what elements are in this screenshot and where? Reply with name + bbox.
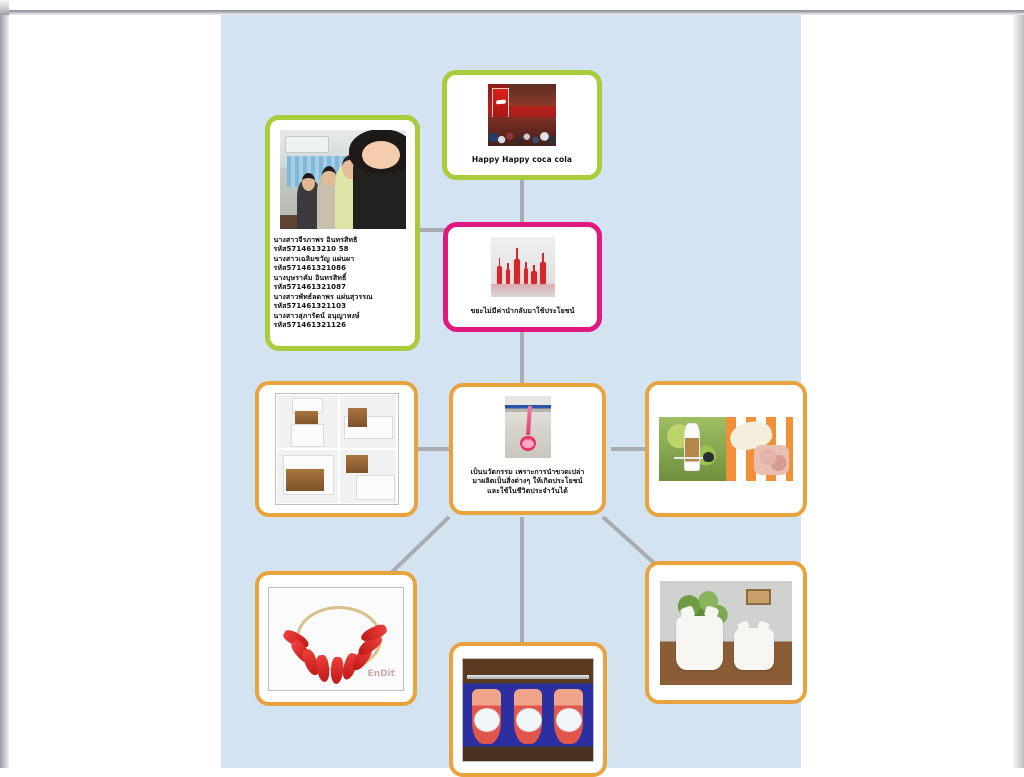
team-line-3: นางสาวเฉลิมขวัญ แผ่นผา — [274, 255, 419, 264]
necklace-photo: EnDit — [268, 587, 404, 691]
window-corner — [0, 0, 9, 15]
window-top-bar — [0, 0, 1024, 10]
team-line-4: รหัส571461321086 — [274, 264, 419, 273]
team-line-5: นางบุษราคัม อินทรสิทธิ์ — [274, 274, 419, 283]
packaging-collage-photo — [275, 393, 399, 505]
innovation-line-2: มาผลิตเป็นสิ่งต่างๆ ให้เกิดประโยชน์ — [471, 477, 585, 486]
innovation-center-node[interactable]: เป็นนวัตกรรม เพราะการนำขวดเปล่า มาผลิตเป… — [449, 383, 606, 515]
mindmap-canvas: นางสาวจีรภาพร อินทรสิทธิ รหัส5714613210 … — [221, 15, 801, 768]
waste-value-caption: ขยะไม่มีค่านำกลับมาใช้ประโยชน์ — [465, 307, 579, 316]
packaging-collage-node[interactable] — [255, 381, 418, 517]
slide-page: นางสาวจีรภาพร อินทรสิทธิ รหัส5714613210 … — [9, 15, 1013, 768]
team-line-1: นางสาวจีรภาพร อินทรสิทธิ — [274, 236, 419, 245]
team-members-list: นางสาวจีรภาพร อินทรสิทธิ รหัส5714613210 … — [265, 236, 420, 330]
left-scroll-gutter[interactable] — [0, 15, 9, 768]
connector-happy-waste — [520, 178, 524, 226]
team-members-node[interactable]: นางสาวจีรภาพร อินทรสิทธิ รหัส5714613210 … — [265, 115, 420, 351]
cat-planter-node[interactable] — [645, 561, 807, 704]
team-line-9: นางสาวสุภารัตน์ อนุญาหงษ์ — [274, 312, 419, 321]
connector-center-duo — [611, 447, 645, 451]
team-line-6: รหัส571461321087 — [274, 283, 419, 292]
slide-root: นางสาวจีรภาพร อินทรสิทธิ รหัส5714613210 … — [0, 0, 1024, 768]
red-bottles-photo — [491, 237, 555, 297]
team-line-8: รหัส571461321103 — [274, 302, 419, 311]
innovation-caption: เป็นนวัตกรรม เพราะการนำขวดเปล่า มาผลิตเป… — [466, 468, 590, 496]
bird-feeder-node[interactable] — [645, 381, 807, 517]
connector-waste-center — [520, 331, 524, 386]
connector-center-craft — [520, 517, 524, 647]
necklace-watermark: EnDit — [368, 669, 395, 679]
bottle-necklace-node[interactable]: EnDit — [255, 571, 417, 706]
team-photo — [280, 130, 406, 229]
waste-value-node[interactable]: ขยะไม่มีค่านำกลับมาใช้ประโยชน์ — [443, 222, 602, 332]
bird-feeder-photo — [659, 417, 793, 481]
bottle-craft-photo — [505, 396, 551, 458]
innovation-line-1: เป็นนวัตกรรม เพราะการนำขวดเปล่า — [471, 468, 585, 477]
craft-display-node[interactable] — [449, 642, 607, 777]
cat-planter-photo — [660, 581, 792, 685]
happy-coca-cola-node[interactable]: Happy Happy coca cola — [442, 70, 602, 180]
coca-cola-crowd-photo — [488, 84, 556, 146]
team-line-10: รหัส571461321126 — [274, 321, 419, 330]
right-scroll-gutter[interactable] — [1013, 15, 1024, 768]
craft-display-photo — [462, 658, 594, 762]
connector-center-collage — [417, 447, 453, 451]
team-line-7: นางสาวพัทธ์ลดาพร แผ่นสุวรรณ — [274, 293, 419, 302]
innovation-line-3: และใช้ในชีวิตประจำวันได้ — [471, 487, 585, 496]
team-line-2: รหัส5714613210 58 — [274, 245, 419, 254]
happy-coca-cola-caption: Happy Happy coca cola — [467, 155, 577, 164]
